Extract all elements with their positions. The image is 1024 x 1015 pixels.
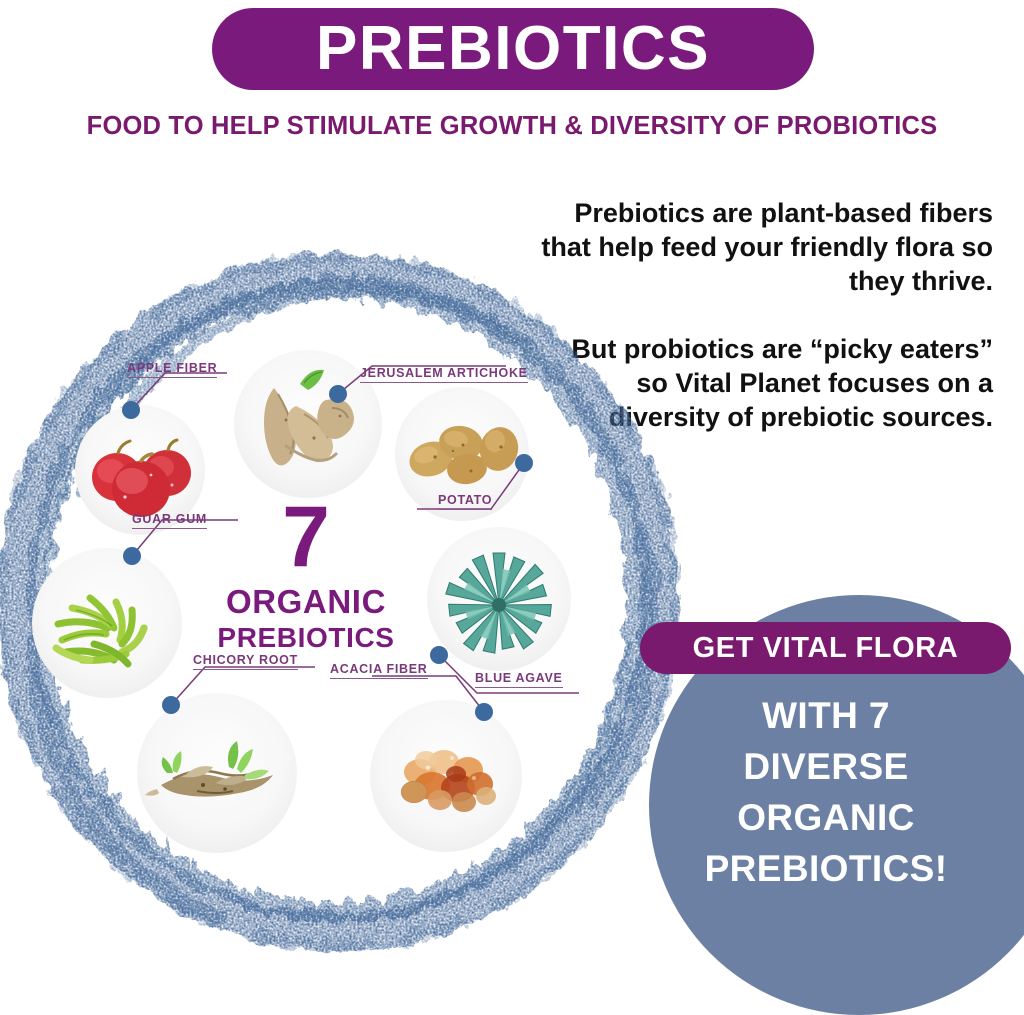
chicory-root-icon	[137, 693, 297, 853]
food-label-potato: POTATO	[438, 493, 492, 510]
page-title: PREBIOTICS	[316, 18, 710, 80]
cta-badge-text: WITH 7 DIVERSE ORGANIC PREBIOTICS!	[651, 690, 1001, 894]
food-label-guar-gum: GUAR GUM	[132, 512, 207, 529]
page-subtitle: FOOD TO HELP STIMULATE GROWTH & DIVERSIT…	[0, 112, 1024, 141]
center-count-label: 7 ORGANIC PREBIOTICS	[196, 498, 416, 654]
count-line-2: PREBIOTICS	[196, 622, 416, 654]
cta-line-4: PREBIOTICS!	[651, 843, 1001, 894]
blue-agave-icon	[427, 527, 571, 671]
food-item-blue-agave[interactable]: BLUE AGAVE	[427, 527, 571, 671]
food-item-jerusalem-artichoke[interactable]: JERUSALEM ARTICHOKE	[234, 350, 382, 498]
food-item-chicory-root[interactable]: CHICORY ROOT	[137, 693, 297, 853]
food-item-acacia-fiber[interactable]: ACACIA FIBER	[370, 700, 522, 852]
cta-badge-pill[interactable]: GET VITAL FLORA	[640, 622, 1011, 674]
food-label-chicory-root: CHICORY ROOT	[193, 653, 298, 670]
cta-line-3: ORGANIC	[651, 792, 1001, 843]
food-label-acacia-fiber: ACACIA FIBER	[330, 662, 428, 679]
count-line-1: ORGANIC	[196, 583, 416, 621]
food-label-blue-agave: BLUE AGAVE	[475, 671, 563, 688]
food-label-apple-fiber: APPLE FIBER	[127, 361, 217, 378]
guar-gum-disc	[32, 548, 182, 698]
page-title-pill: PREBIOTICS	[212, 8, 814, 90]
cta-line-2: DIVERSE	[651, 741, 1001, 792]
acacia-fiber-icon	[370, 700, 522, 852]
guar-gum-icon	[32, 548, 182, 698]
food-item-potato[interactable]: POTATO	[395, 387, 529, 521]
cta-line-1: WITH 7	[651, 690, 1001, 741]
count-number: 7	[196, 498, 416, 577]
food-label-jerusalem-artichoke: JERUSALEM ARTICHOKE	[360, 366, 528, 383]
blue-agave-disc	[427, 527, 571, 671]
infographic-canvas: PREBIOTICS FOOD TO HELP STIMULATE GROWTH…	[0, 0, 1024, 981]
chicory-root-disc	[137, 693, 297, 853]
acacia-fiber-disc	[370, 700, 522, 852]
cta-badge-pill-label: GET VITAL FLORA	[693, 632, 959, 665]
food-item-guar-gum[interactable]: GUAR GUM	[32, 548, 182, 698]
